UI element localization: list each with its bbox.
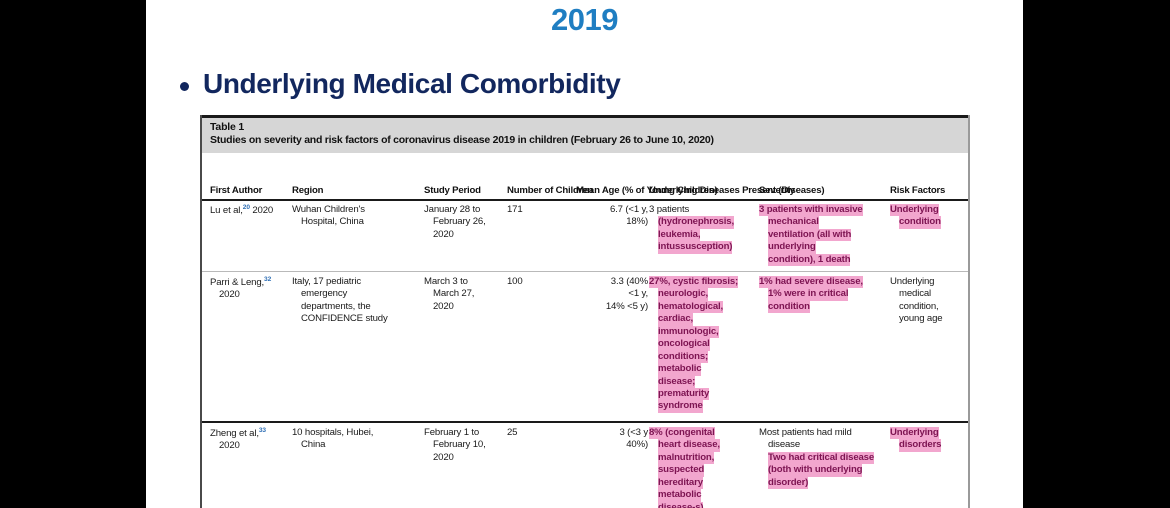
cell-study-period: March 3 toMarch 27,2020 [424,276,506,313]
page-title: 2019 [146,2,1023,38]
bullet-heading-label: Underlying Medical Comorbidity [203,68,620,100]
cell-region: 10 hospitals, Hubei,China [292,427,422,452]
table-row: Parri & Leng,322020 Italy, 17 pediatrice… [202,271,968,421]
cell-risk-factors: Underlyingcondition [890,204,970,229]
column-header-underlying-diseases: Underlying Diseases Present (Diseases) [649,185,824,196]
cell-underlying-diseases: 8% (congenitalheart disease,malnutrition… [649,427,757,508]
table-row: Lu et al,20 2020 Wuhan Children'sHospita… [202,201,968,271]
slide-stage: 2019 Underlying Medical Comorbidity Tabl… [0,0,1170,508]
cell-risk-factors: Underlyingmedicalcondition,young age [890,276,970,326]
cell-first-author: Lu et al,20 2020 [210,204,296,218]
cell-first-author: Parri & Leng,322020 [210,276,296,302]
cell-risk-factors: Underlyingdisorders [890,427,970,452]
cell-number-children: 100 [507,276,571,288]
letterbox-bar-left [0,0,146,508]
table-title-bar: Table 1 Studies on severity and risk fac… [202,115,968,153]
cell-mean-age: 3.3 (40%<1 y,14% <5 y) [576,276,648,313]
table-row: Zheng et al,332020 10 hospitals, Hubei,C… [202,421,968,508]
cell-first-author: Zheng et al,332020 [210,427,296,453]
cell-mean-age: 3 (<3 y40%) [576,427,648,452]
table-caption: Studies on severity and risk factors of … [210,134,960,148]
column-header-study-period: Study Period [424,185,481,196]
table-column-header-row: First Author Region Study Period Number … [202,153,968,201]
bullet-dot-icon [180,82,189,91]
presentation-slide: 2019 Underlying Medical Comorbidity Tabl… [146,0,1023,508]
table-number: Table 1 [210,121,960,134]
bullet-heading: Underlying Medical Comorbidity [180,68,620,100]
cell-severity: 3 patients with invasivemechanicalventil… [759,204,887,266]
table-figure: Table 1 Studies on severity and risk fac… [200,115,970,508]
cell-number-children: 171 [507,204,571,216]
cell-severity: Most patients had milddiseaseTwo had cri… [759,427,887,489]
cell-mean-age: 6.7 (<1 y,18%) [576,204,648,229]
letterbox-bar-right [1023,0,1170,508]
cell-study-period: February 1 toFebruary 10,2020 [424,427,506,464]
column-header-risk-factors: Risk Factors [890,185,945,196]
cell-severity: 1% had severe disease,1% were in critica… [759,276,887,313]
column-header-severity: Severity [759,185,795,196]
cell-region: Wuhan Children'sHospital, China [292,204,422,229]
cell-underlying-diseases: 27%, cystic fibrosis;neurologic,hematolo… [649,276,757,413]
cell-number-children: 25 [507,427,571,439]
cell-study-period: January 28 toFebruary 26,2020 [424,204,506,241]
cell-underlying-diseases: 3 patients(hydronephrosis,leukemia,intus… [649,204,757,254]
column-header-region: Region [292,185,323,196]
cell-region: Italy, 17 pediatricemergencydepartments,… [292,276,422,326]
column-header-first-author: First Author [210,185,262,196]
